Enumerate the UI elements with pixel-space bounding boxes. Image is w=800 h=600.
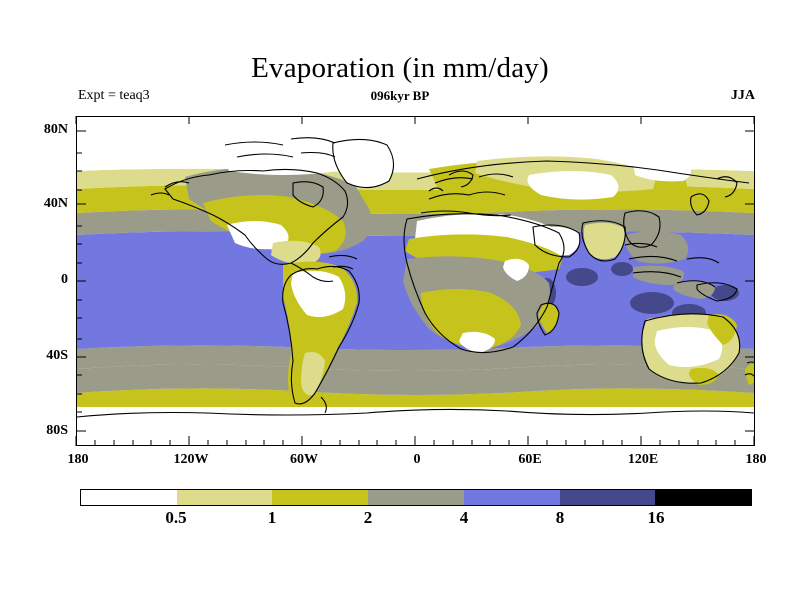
ytick-label-40s: 40S — [8, 348, 68, 364]
colorbar-band-2[interactable] — [272, 490, 368, 505]
colorbar-tick-3: 4 — [434, 508, 494, 528]
colorbar-band-6[interactable] — [655, 490, 751, 505]
season-label: JJA — [731, 88, 755, 104]
experiment-label: Expt = teaq3 — [78, 88, 150, 104]
colorbar-band-3[interactable] — [368, 490, 464, 505]
colorbar-tick-5: 16 — [626, 508, 686, 528]
xtick-label-0: 0 — [382, 452, 452, 468]
xtick-label-120e: 120E — [608, 452, 678, 468]
xtick-label-60e: 60E — [495, 452, 565, 468]
colorbar-band-1[interactable] — [177, 490, 273, 505]
colorbar-tick-1: 1 — [242, 508, 302, 528]
xtick-label-120w: 120W — [156, 452, 226, 468]
colorbar-tick-4: 8 — [530, 508, 590, 528]
ytick-label-0: 0 — [8, 272, 68, 288]
ytick-label-80s: 80S — [8, 423, 68, 439]
colorbar-band-0[interactable] — [81, 490, 177, 505]
xtick-label-180w: 180 — [43, 452, 113, 468]
colorbar-band-5[interactable] — [560, 490, 656, 505]
evaporation-map — [77, 117, 754, 445]
colorbar-tick-0: 0.5 — [146, 508, 206, 528]
figure-canvas: Evaporation (in mm/day) 096kyr BP Expt =… — [0, 0, 800, 600]
page-title: Evaporation (in mm/day) — [0, 52, 800, 85]
map-plot-area — [76, 116, 755, 446]
colorbar-tick-2: 2 — [338, 508, 398, 528]
colorbar[interactable] — [80, 489, 752, 506]
ytick-label-40n: 40N — [8, 196, 68, 212]
ytick-label-80n: 80N — [8, 122, 68, 138]
xtick-label-180e: 180 — [721, 452, 791, 468]
xtick-label-60w: 60W — [269, 452, 339, 468]
colorbar-band-4[interactable] — [464, 490, 560, 505]
